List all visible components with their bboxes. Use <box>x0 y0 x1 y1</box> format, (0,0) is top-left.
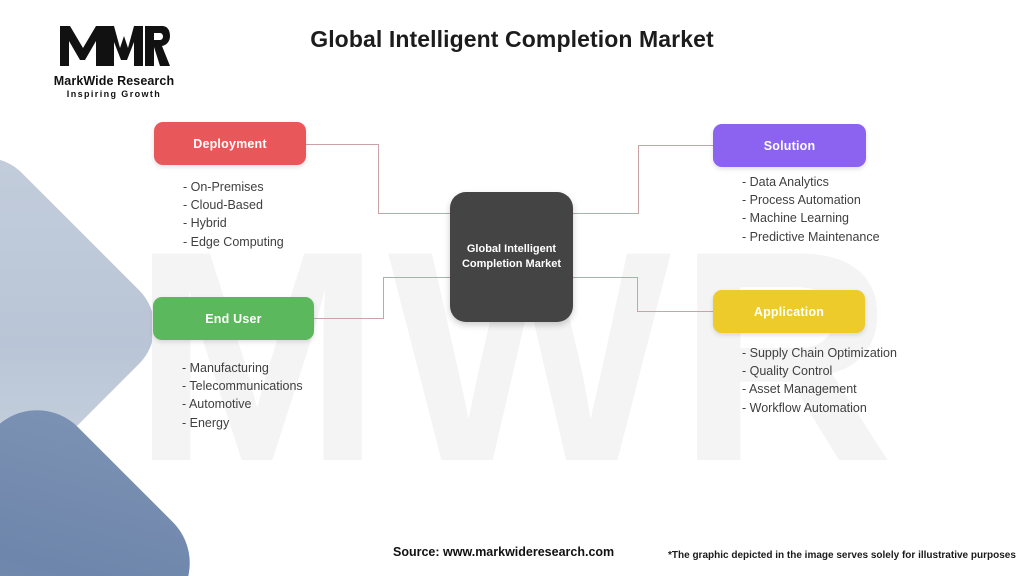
list-item: - Telecommunications <box>182 377 303 395</box>
list-item: - Process Automation <box>742 191 880 209</box>
list-item: - Workflow Automation <box>742 399 897 417</box>
branch-end-user-box[interactable]: End User <box>153 297 314 340</box>
connector-application-horizontal-1 <box>570 277 637 278</box>
connector-deployment-horizontal-2 <box>378 213 454 214</box>
center-node[interactable]: Global Intelligent Completion Market <box>450 192 573 322</box>
list-item: - On-Premises <box>183 178 284 196</box>
list-item: - Machine Learning <box>742 209 880 227</box>
list-item: - Quality Control <box>742 362 897 380</box>
connector-application-vertical <box>637 277 638 312</box>
page-title: Global Intelligent Completion Market <box>0 26 1024 53</box>
branch-application-label: Application <box>754 305 824 319</box>
connector-solution-horizontal-2 <box>638 145 714 146</box>
connector-application-horizontal-2 <box>637 311 713 312</box>
connector-solution-horizontal-1 <box>570 213 638 214</box>
connector-deployment-horizontal-1 <box>306 144 378 145</box>
branch-end-user-items: - Manufacturing - Telecommunications - A… <box>182 359 303 432</box>
diagram-canvas: MWR MarkWide Research Inspiring Growth G… <box>0 0 1024 576</box>
connector-solution-vertical <box>638 145 639 214</box>
connector-enduser-horizontal-2 <box>383 277 454 278</box>
center-node-text: Global Intelligent Completion Market <box>456 242 567 272</box>
connector-deployment-vertical <box>378 144 379 214</box>
branch-deployment-box[interactable]: Deployment <box>154 122 306 165</box>
branch-deployment-label: Deployment <box>193 137 267 151</box>
decorative-shape-light-blue <box>0 136 176 518</box>
list-item: - Asset Management <box>742 380 897 398</box>
center-node-line-2: Completion Market <box>462 258 561 270</box>
list-item: - Manufacturing <box>182 359 303 377</box>
list-item: - Energy <box>182 414 303 432</box>
branch-solution-box[interactable]: Solution <box>713 124 866 167</box>
list-item: - Predictive Maintenance <box>742 228 880 246</box>
branch-solution-items: - Data Analytics - Process Automation - … <box>742 173 880 246</box>
list-item: - Supply Chain Optimization <box>742 344 897 362</box>
list-item: - Hybrid <box>183 214 284 232</box>
center-node-line-1: Global Intelligent <box>467 243 556 255</box>
connector-enduser-horizontal-1 <box>314 318 384 319</box>
footer-disclaimer: *The graphic depicted in the image serve… <box>668 550 1016 561</box>
branch-application-items: - Supply Chain Optimization - Quality Co… <box>742 344 897 417</box>
logo-tagline: Inspiring Growth <box>14 89 214 99</box>
connector-enduser-vertical <box>383 277 384 319</box>
logo-company-name: MarkWide Research <box>14 74 214 88</box>
branch-end-user-label: End User <box>205 312 261 326</box>
list-item: - Data Analytics <box>742 173 880 191</box>
branch-solution-label: Solution <box>764 139 816 153</box>
list-item: - Edge Computing <box>183 233 284 251</box>
branch-application-box[interactable]: Application <box>713 290 865 333</box>
list-item: - Cloud-Based <box>183 196 284 214</box>
footer-source: Source: www.markwideresearch.com <box>393 545 614 559</box>
list-item: - Automotive <box>182 395 303 413</box>
branch-deployment-items: - On-Premises - Cloud-Based - Hybrid - E… <box>183 178 284 251</box>
